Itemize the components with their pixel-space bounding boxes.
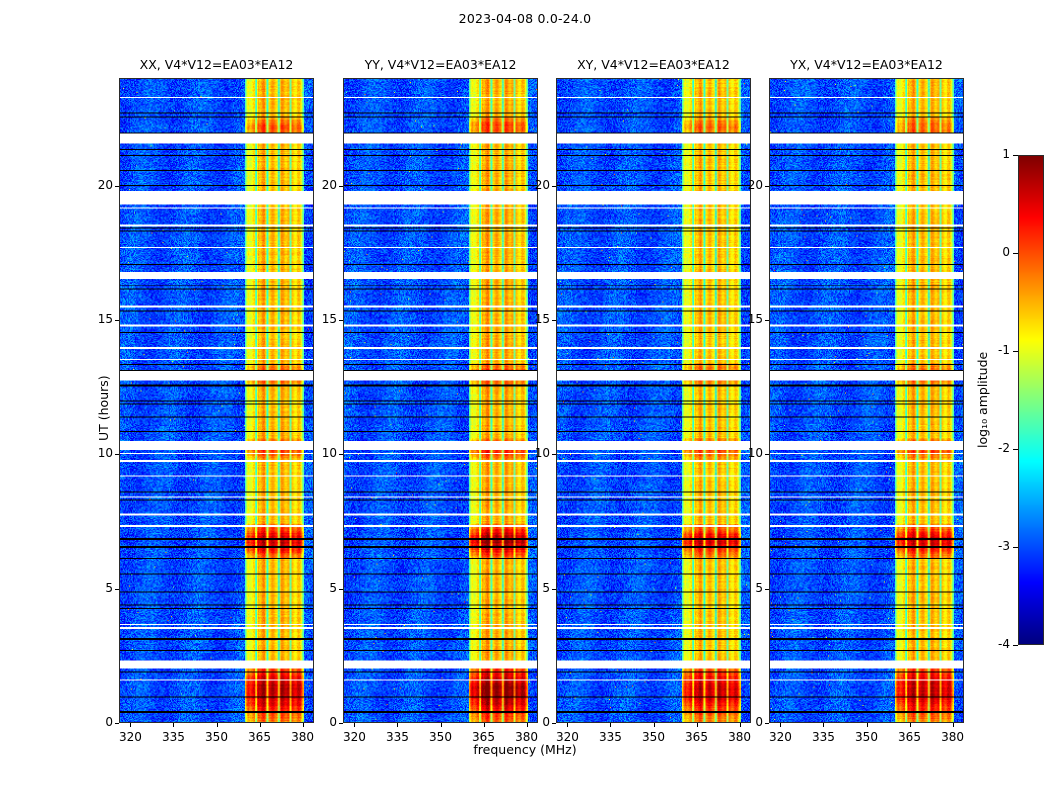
colorbar-tick-label: -2 (978, 441, 1010, 455)
y-tickmark (115, 723, 119, 724)
x-tickmark (173, 723, 174, 727)
y-tick-label: 15 (512, 312, 550, 326)
x-tick-label: 320 (758, 730, 802, 744)
colorbar-tick-label: 1 (978, 147, 1010, 161)
y-tickmark (115, 320, 119, 321)
y-tick-label: 20 (725, 178, 763, 192)
y-tickmark (115, 454, 119, 455)
y-tickmark (115, 589, 119, 590)
y-axis-label: UT (hours) (96, 375, 111, 441)
y-tickmark (339, 320, 343, 321)
x-tick-label: 320 (545, 730, 589, 744)
y-tick-label: 15 (75, 312, 113, 326)
x-tickmark (697, 723, 698, 727)
y-tick-label: 0 (725, 715, 763, 729)
colorbar-tickmark (1013, 449, 1018, 450)
x-tick-label: 335 (801, 730, 845, 744)
x-tickmark (654, 723, 655, 727)
y-tickmark (765, 320, 769, 321)
y-tickmark (339, 454, 343, 455)
x-tick-label: 335 (151, 730, 195, 744)
panel-title-yy: YY, V4*V12=EA03*EA12 (343, 57, 538, 72)
x-tick-label: 350 (419, 730, 463, 744)
y-tick-label: 5 (512, 581, 550, 595)
heatmap-panel-yx[interactable] (769, 78, 964, 723)
y-tickmark (552, 454, 556, 455)
y-tickmark (552, 186, 556, 187)
colorbar-tick-label: -3 (978, 539, 1010, 553)
panel-title-xy: XY, V4*V12=EA03*EA12 (556, 57, 751, 72)
panel-title-xx: XX, V4*V12=EA03*EA12 (119, 57, 314, 72)
x-tick-label: 365 (238, 730, 282, 744)
x-tickmark (441, 723, 442, 727)
colorbar-tickmark (1013, 155, 1018, 156)
x-tick-label: 380 (931, 730, 975, 744)
x-tickmark (260, 723, 261, 727)
x-tickmark (953, 723, 954, 727)
colorbar-tick-label: -1 (978, 343, 1010, 357)
y-tick-label: 15 (299, 312, 337, 326)
y-tick-label: 10 (725, 446, 763, 460)
x-tickmark (484, 723, 485, 727)
colorbar-label: log₁₀ amplitude (975, 352, 990, 448)
x-tick-label: 380 (505, 730, 549, 744)
y-tick-label: 10 (75, 446, 113, 460)
y-tick-label: 0 (299, 715, 337, 729)
heatmap-panel-xx[interactable] (119, 78, 314, 723)
x-tickmark (397, 723, 398, 727)
y-tick-label: 15 (725, 312, 763, 326)
heatmap-panel-xy[interactable] (556, 78, 751, 723)
x-tick-label: 350 (845, 730, 889, 744)
heatmap-panel-yy[interactable] (343, 78, 538, 723)
x-tick-label: 350 (195, 730, 239, 744)
y-tickmark (339, 589, 343, 590)
y-tickmark (765, 186, 769, 187)
y-tickmark (552, 320, 556, 321)
colorbar-tickmark (1013, 253, 1018, 254)
y-tick-label: 5 (75, 581, 113, 595)
x-tick-label: 380 (281, 730, 325, 744)
y-tick-label: 10 (299, 446, 337, 460)
colorbar-tickmark (1013, 351, 1018, 352)
x-tick-label: 350 (632, 730, 676, 744)
x-tick-label: 365 (675, 730, 719, 744)
colorbar-tick-label: 0 (978, 245, 1010, 259)
y-tickmark (765, 454, 769, 455)
y-tick-label: 0 (512, 715, 550, 729)
y-tick-label: 5 (725, 581, 763, 595)
x-tickmark (780, 723, 781, 727)
y-tick-label: 10 (512, 446, 550, 460)
y-tickmark (765, 723, 769, 724)
panel-title-yx: YX, V4*V12=EA03*EA12 (769, 57, 964, 72)
y-tick-label: 20 (512, 178, 550, 192)
x-tick-label: 335 (375, 730, 419, 744)
y-tickmark (552, 589, 556, 590)
x-tick-label: 320 (332, 730, 376, 744)
colorbar-tickmark (1013, 547, 1018, 548)
y-tick-label: 5 (299, 581, 337, 595)
x-tickmark (823, 723, 824, 727)
x-tick-label: 335 (588, 730, 632, 744)
y-tick-label: 0 (75, 715, 113, 729)
y-tickmark (339, 186, 343, 187)
x-tickmark (867, 723, 868, 727)
colorbar-tick-label: -4 (978, 637, 1010, 651)
figure-suptitle: 2023-04-08 0.0-24.0 (0, 11, 1050, 26)
colorbar-tickmark (1013, 645, 1018, 646)
x-tickmark (354, 723, 355, 727)
x-tickmark (130, 723, 131, 727)
x-tickmark (217, 723, 218, 727)
x-tick-label: 320 (108, 730, 152, 744)
x-tickmark (610, 723, 611, 727)
x-tick-label: 365 (462, 730, 506, 744)
x-tickmark (910, 723, 911, 727)
y-tick-label: 20 (75, 178, 113, 192)
y-tickmark (115, 186, 119, 187)
colorbar (1018, 155, 1044, 645)
figure-canvas: 2023-04-08 0.0-24.0 XX, V4*V12=EA03*EA12… (0, 0, 1050, 800)
y-tickmark (552, 723, 556, 724)
x-axis-label: frequency (MHz) (0, 742, 1050, 757)
x-tick-label: 380 (718, 730, 762, 744)
x-tickmark (567, 723, 568, 727)
x-tick-label: 365 (888, 730, 932, 744)
y-tickmark (339, 723, 343, 724)
y-tickmark (765, 589, 769, 590)
y-tick-label: 20 (299, 178, 337, 192)
